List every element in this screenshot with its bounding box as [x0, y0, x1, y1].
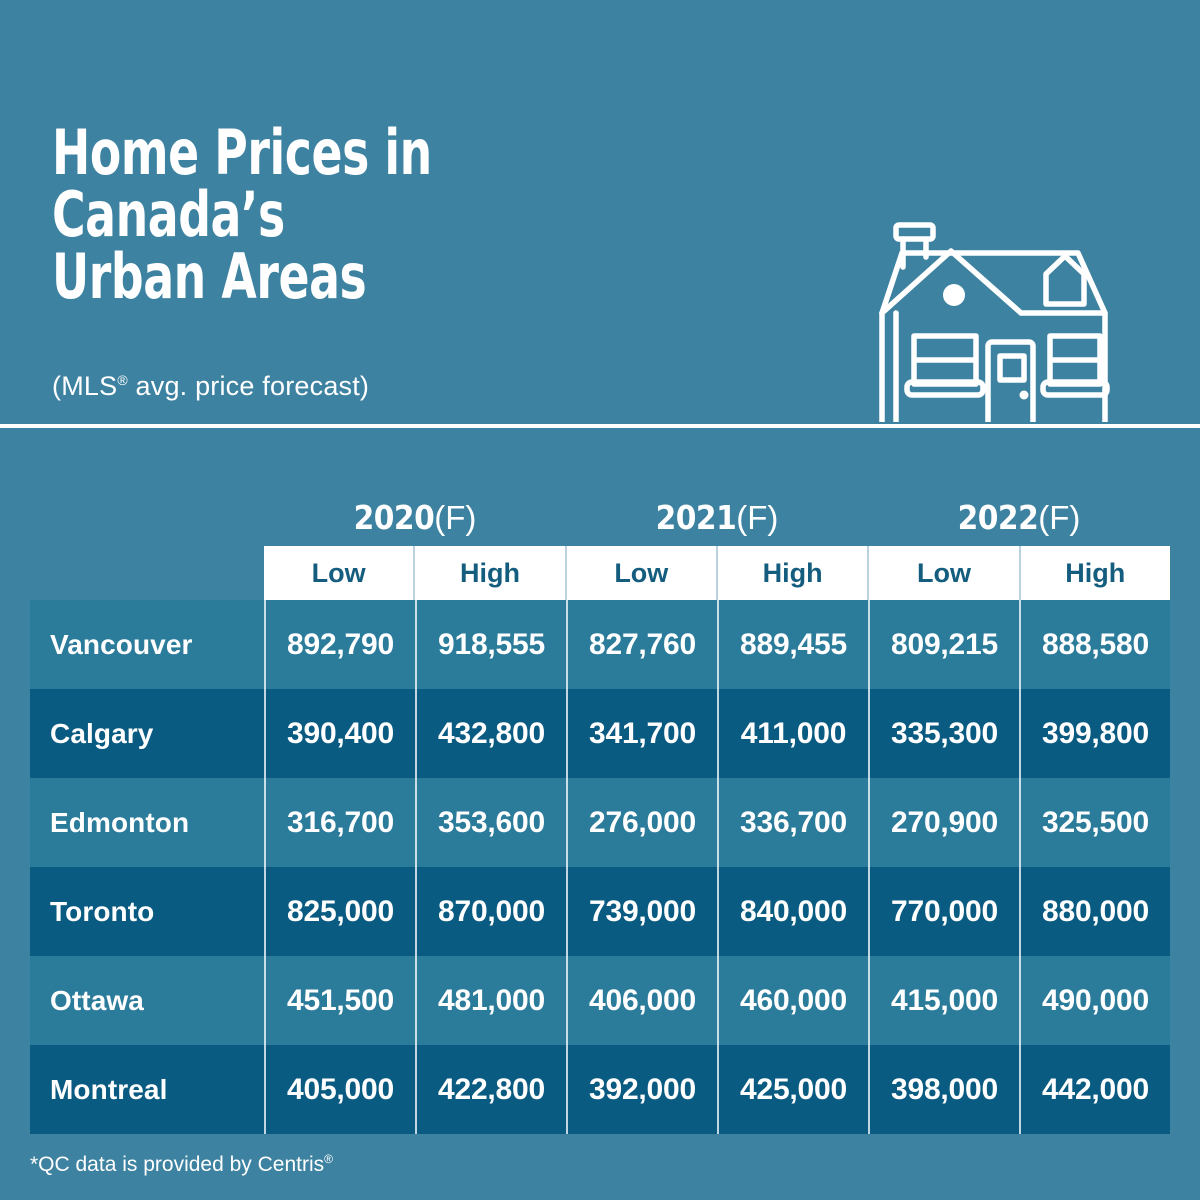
- year-label-2021: 2021: [656, 498, 737, 537]
- cell-vancouver-2021-high: 889,455: [717, 600, 868, 689]
- cell-montreal-2022-low: 398,000: [868, 1045, 1019, 1134]
- cell-calgary-2022-low: 335,300: [868, 689, 1019, 778]
- cell-vancouver-2022-low: 809,215: [868, 600, 1019, 689]
- row-label-edmonton: Edmonton: [30, 807, 264, 839]
- cell-toronto-2021-low: 739,000: [566, 867, 717, 956]
- cell-montreal-2020-low: 405,000: [264, 1045, 415, 1134]
- cell-ottawa-2021-high: 460,000: [717, 956, 868, 1045]
- subtitle-text-post: avg. price forecast): [128, 371, 369, 401]
- cell-edmonton-2020-low: 316,700: [264, 778, 415, 867]
- cell-edmonton-2021-low: 276,000: [566, 778, 717, 867]
- table-row: Ottawa 451,500 481,000 406,000 460,000 4…: [30, 956, 1170, 1045]
- table-row: Calgary 390,400 432,800 341,700 411,000 …: [30, 689, 1170, 778]
- column-header-2022-low: Low: [869, 546, 1020, 600]
- year-header-2020: 2020(F): [264, 494, 566, 542]
- year-label-2022: 2022: [958, 498, 1039, 537]
- footnote: *QC data is provided by Centris®: [30, 1152, 333, 1177]
- table-row: Edmonton 316,700 353,600 276,000 336,700…: [30, 778, 1170, 867]
- forecast-flag-2020: (F): [434, 499, 476, 536]
- column-header-2022-high: High: [1021, 546, 1170, 600]
- cell-edmonton-2020-high: 353,600: [415, 778, 566, 867]
- house-icon: [866, 196, 1116, 422]
- cell-toronto-2021-high: 840,000: [717, 867, 868, 956]
- cell-calgary-2021-low: 341,700: [566, 689, 717, 778]
- forecast-flag-2021: (F): [736, 499, 778, 536]
- cell-calgary-2021-high: 411,000: [717, 689, 868, 778]
- cell-ottawa-2020-low: 451,500: [264, 956, 415, 1045]
- registered-mark-icon: ®: [117, 372, 128, 388]
- cell-toronto-2022-high: 880,000: [1019, 867, 1170, 956]
- cell-montreal-2021-low: 392,000: [566, 1045, 717, 1134]
- year-label-2020: 2020: [354, 498, 435, 537]
- cell-ottawa-2020-high: 481,000: [415, 956, 566, 1045]
- footnote-text: *QC data is provided by Centris: [30, 1153, 324, 1176]
- table-body: Vancouver 892,790 918,555 827,760 889,45…: [30, 600, 1170, 1134]
- table-row: Vancouver 892,790 918,555 827,760 889,45…: [30, 600, 1170, 689]
- column-header-2020-high: High: [415, 546, 566, 600]
- cell-ottawa-2022-low: 415,000: [868, 956, 1019, 1045]
- registered-mark-icon: ®: [324, 1152, 333, 1166]
- price-table: 2020(F) 2021(F) 2022(F) Low High Low Hig…: [0, 428, 1200, 1200]
- cell-edmonton-2021-high: 336,700: [717, 778, 868, 867]
- cell-toronto-2022-low: 770,000: [868, 867, 1019, 956]
- cell-calgary-2020-low: 390,400: [264, 689, 415, 778]
- cell-edmonton-2022-low: 270,900: [868, 778, 1019, 867]
- header-band: Home Prices in Canada’s Urban Areas (MLS…: [0, 0, 1200, 426]
- subtitle: (MLS® avg. price forecast): [52, 371, 369, 402]
- row-label-montreal: Montreal: [30, 1074, 264, 1106]
- cell-montreal-2021-high: 425,000: [717, 1045, 868, 1134]
- cell-vancouver-2020-low: 892,790: [264, 600, 415, 689]
- row-label-vancouver: Vancouver: [30, 629, 264, 661]
- year-header-2021: 2021(F): [566, 494, 868, 542]
- subtitle-text-pre: (MLS: [52, 371, 117, 401]
- cell-calgary-2020-high: 432,800: [415, 689, 566, 778]
- table-row: Montreal 405,000 422,800 392,000 425,000…: [30, 1045, 1170, 1134]
- cell-toronto-2020-low: 825,000: [264, 867, 415, 956]
- row-label-toronto: Toronto: [30, 896, 264, 928]
- column-header-2021-low: Low: [567, 546, 718, 600]
- page-title: Home Prices in Canada’s Urban Areas: [52, 122, 675, 308]
- cell-calgary-2022-high: 399,800: [1019, 689, 1170, 778]
- cell-edmonton-2022-high: 325,500: [1019, 778, 1170, 867]
- cell-vancouver-2021-low: 827,760: [566, 600, 717, 689]
- forecast-flag-2022: (F): [1038, 499, 1080, 536]
- column-header-2021-high: High: [718, 546, 869, 600]
- table-row: Toronto 825,000 870,000 739,000 840,000 …: [30, 867, 1170, 956]
- cell-vancouver-2020-high: 918,555: [415, 600, 566, 689]
- year-header-2022: 2022(F): [868, 494, 1170, 542]
- cell-vancouver-2022-high: 888,580: [1019, 600, 1170, 689]
- cell-montreal-2022-high: 442,000: [1019, 1045, 1170, 1134]
- year-header-row: 2020(F) 2021(F) 2022(F): [264, 494, 1170, 542]
- row-label-calgary: Calgary: [30, 718, 264, 750]
- column-header-2020-low: Low: [264, 546, 415, 600]
- cell-toronto-2020-high: 870,000: [415, 867, 566, 956]
- cell-ottawa-2021-low: 406,000: [566, 956, 717, 1045]
- row-label-ottawa: Ottawa: [30, 985, 264, 1017]
- cell-montreal-2020-high: 422,800: [415, 1045, 566, 1134]
- cell-ottawa-2022-high: 490,000: [1019, 956, 1170, 1045]
- lowhigh-header-row: Low High Low High Low High: [264, 546, 1170, 600]
